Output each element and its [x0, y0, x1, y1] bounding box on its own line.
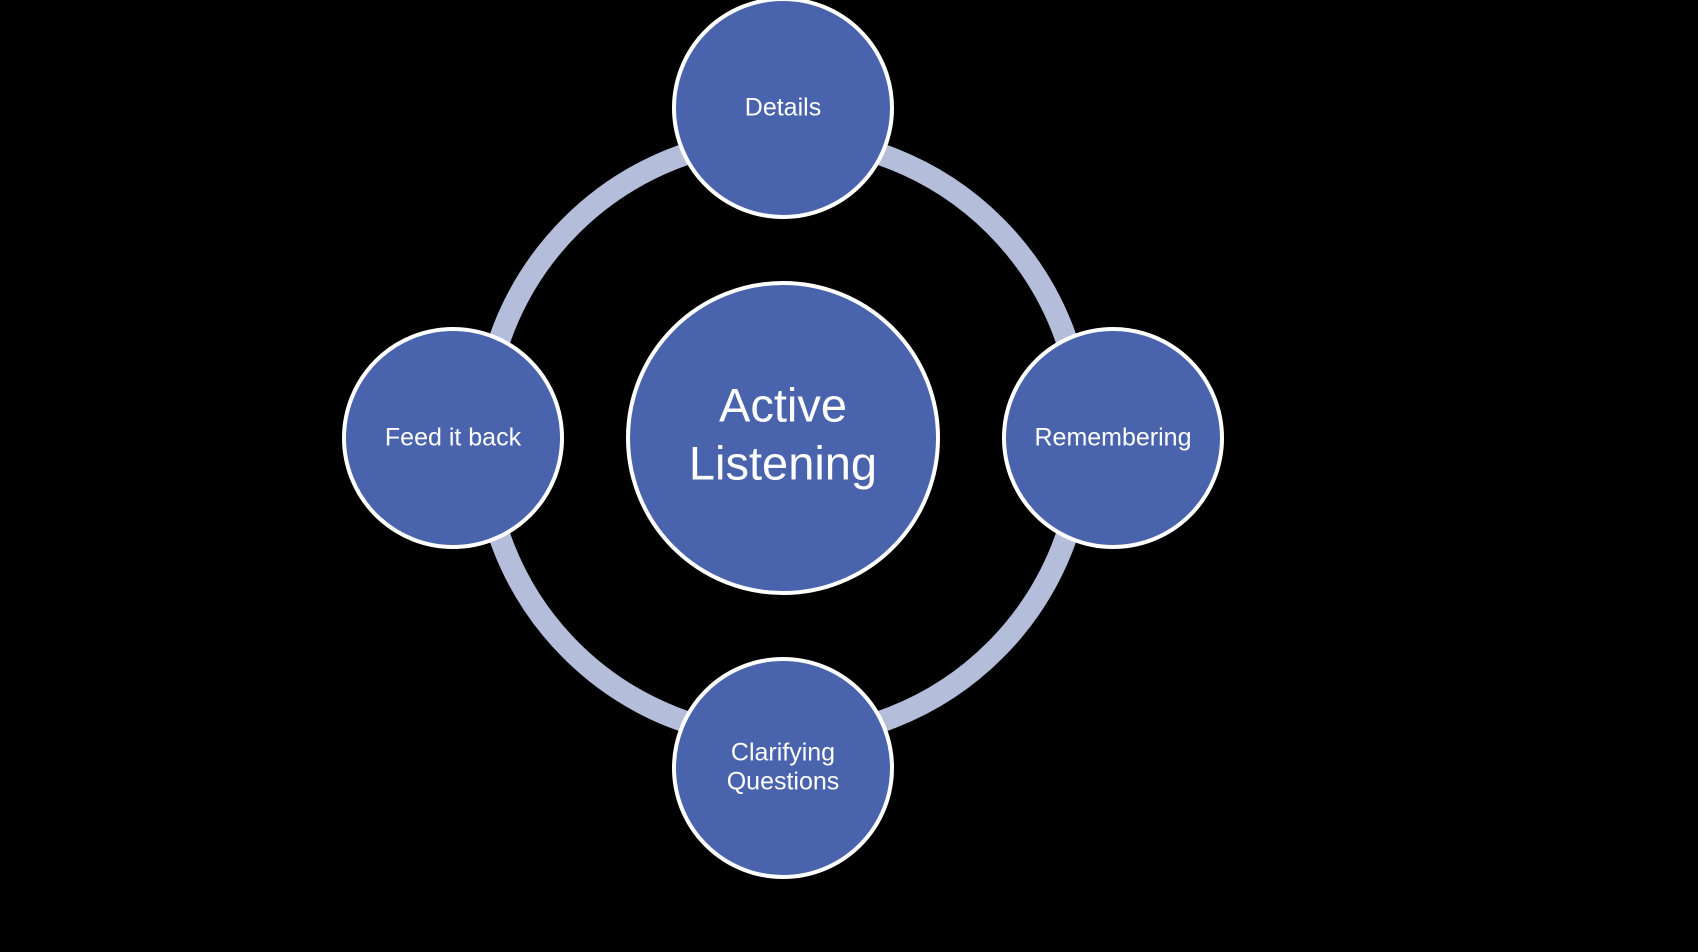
node-feed-it-back-label: Feed it back: [385, 424, 522, 452]
node-feed-it-back[interactable]: Feed it back: [344, 329, 562, 547]
node-details-label: Details: [745, 94, 821, 122]
cycle-diagram: Details Remembering Clarifying Questions…: [0, 0, 1698, 952]
center-node-label-line1: Active: [719, 378, 847, 431]
node-clarifying-questions-label-line1: Clarifying: [731, 739, 835, 767]
node-remembering[interactable]: Remembering: [1004, 329, 1222, 547]
node-clarifying-questions[interactable]: Clarifying Questions: [674, 659, 892, 877]
node-remembering-label: Remembering: [1034, 424, 1191, 452]
node-details[interactable]: Details: [674, 0, 892, 217]
diagram-canvas: Details Remembering Clarifying Questions…: [0, 0, 1698, 952]
center-node-label-line2: Listening: [689, 436, 877, 489]
node-clarifying-questions-label-line2: Questions: [727, 768, 840, 796]
center-node[interactable]: Active Listening: [628, 283, 938, 593]
